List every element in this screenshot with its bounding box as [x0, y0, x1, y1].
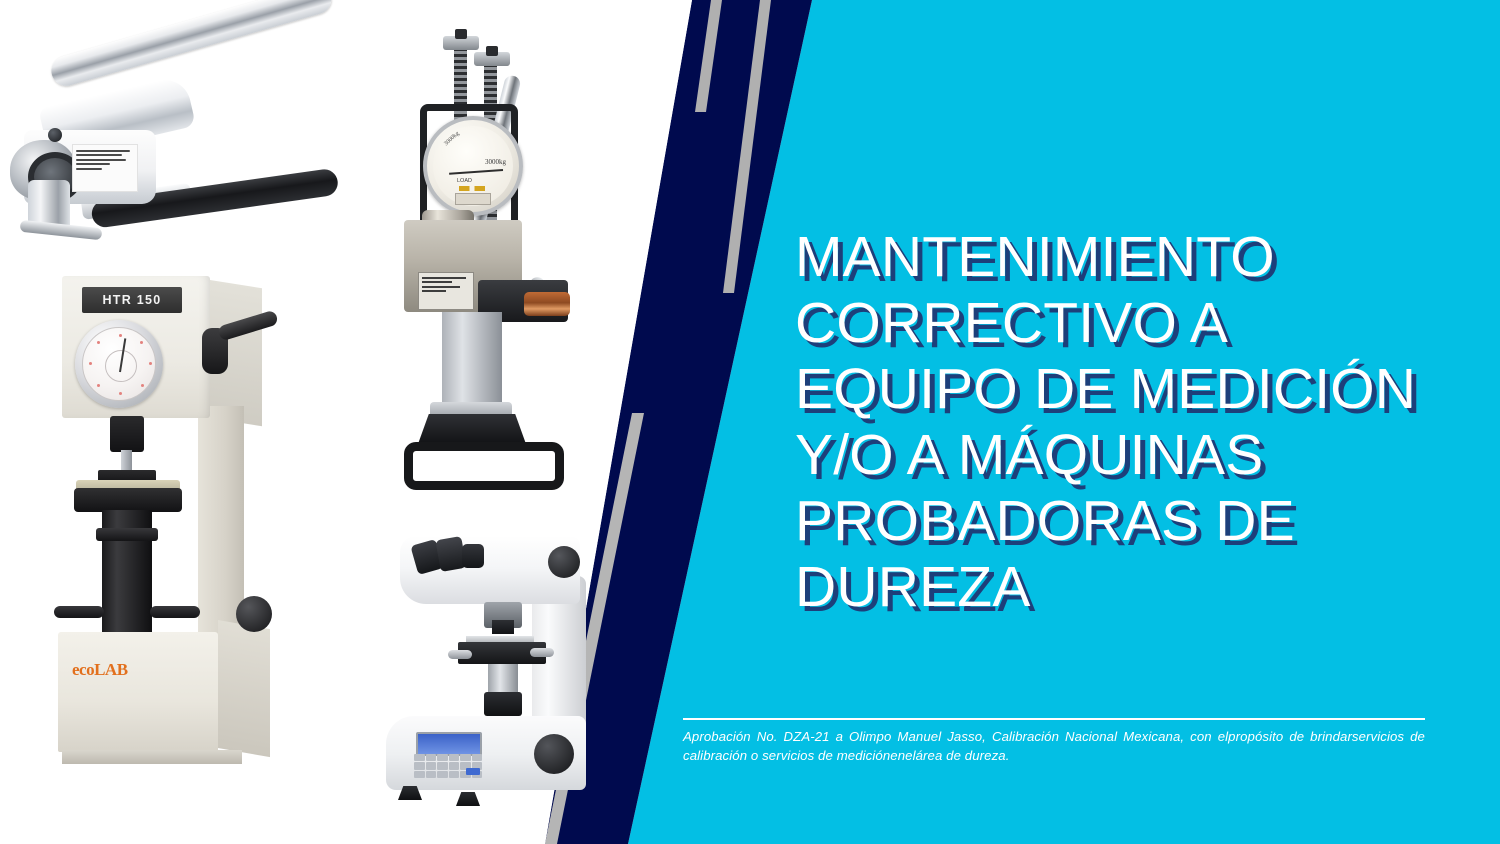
htr-base-side-face	[218, 620, 270, 757]
htr-screw-collar	[96, 528, 158, 541]
htr-dial-tick	[119, 334, 122, 337]
htr-handwheel-spoke-right[interactable]	[150, 606, 200, 618]
vickers-stage-pillar-base	[484, 692, 522, 716]
caption-text: Aprobación No. DZA-21 a Olimpo Manuel Ja…	[683, 727, 1425, 765]
vickers-lcd-display	[416, 732, 482, 756]
photo-rockwell-bench-hardness-tester: HTR 150 ecoL	[48, 276, 288, 824]
htr-model-plate: HTR 150	[82, 287, 182, 313]
brinell-gauge-face: 3000kg 3000kg LOAD	[433, 126, 513, 206]
brinell-gauge-sub-label: LOAD	[457, 178, 472, 184]
vickers-stage-knob-x[interactable]	[448, 650, 472, 659]
brinell-spec-tag	[418, 272, 474, 310]
htr-dial-bezel	[75, 320, 163, 408]
vickers-upper-knob[interactable]	[548, 546, 580, 578]
brinell-rod-nut-1	[455, 29, 467, 39]
htr-dial-tick	[89, 362, 92, 365]
htr-dial-tick	[97, 341, 100, 344]
brinell-base-frame	[404, 442, 564, 490]
vickers-stage-knob-y[interactable]	[530, 648, 554, 657]
htr-dial-tick	[149, 362, 152, 365]
htr-handwheel-spoke-left[interactable]	[54, 606, 104, 618]
plier-adjust-knob	[48, 128, 62, 142]
photo-brinell-hardness-tester: 3000kg 3000kg LOAD	[388, 24, 608, 494]
brinell-gauge-indicator-lamps	[459, 186, 485, 191]
brinell-gauge-nameplate	[455, 193, 491, 205]
brinell-load-gauge: 3000kg 3000kg LOAD	[423, 116, 523, 216]
brinell-support-column	[442, 312, 502, 408]
presentation-slide: HTR 150 ecoL	[0, 0, 1500, 844]
photo-portable-plier-hardness-tester	[8, 52, 358, 267]
vickers-elevation-knob[interactable]	[534, 734, 574, 774]
htr-spindle	[110, 416, 144, 452]
vickers-turret-body	[492, 620, 514, 634]
vickers-objective-lens	[462, 544, 484, 568]
htr-dial-tick	[140, 341, 143, 344]
htr-base-foot	[62, 750, 242, 764]
photo-vickers-micro-hardness-tester	[372, 520, 612, 820]
htr-dial-tick	[141, 384, 144, 387]
htr-dial-tick	[119, 392, 122, 395]
htr-base-housing	[58, 632, 218, 752]
brinell-base-platform	[418, 414, 526, 444]
slide-title: MANTENIMIENTO CORRECTIVO A EQUIPO DE MED…	[795, 224, 1485, 620]
htr-dial-face	[82, 327, 156, 401]
brinell-rod-nut-2	[486, 46, 498, 56]
plier-spec-label	[72, 144, 138, 192]
caption-divider-rule	[683, 718, 1425, 720]
htr-brand-logo: ecoLAB	[72, 660, 128, 680]
brinell-gauge-needle	[449, 169, 503, 175]
htr-dial-tick	[97, 384, 100, 387]
caption-block: Aprobación No. DZA-21 a Olimpo Manuel Ja…	[683, 718, 1425, 765]
brinell-gauge-load-label: 3000kg	[485, 158, 506, 166]
htr-anvil-body	[74, 488, 182, 512]
brinell-copper-handle-grip[interactable]	[524, 292, 570, 316]
vickers-enter-key[interactable]	[466, 768, 480, 775]
htr-base-knob[interactable]	[236, 596, 272, 632]
brinell-gauge-arc-label: 3000kg	[443, 131, 460, 148]
vickers-foot-right	[456, 792, 480, 806]
